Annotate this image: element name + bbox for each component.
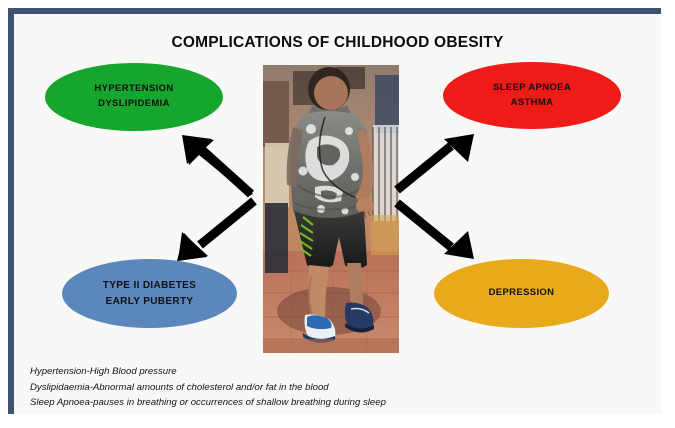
footnotes-block: Hypertension-High Blood pressure Dyslipi… (30, 364, 630, 411)
arrow-up-left-icon (179, 134, 255, 196)
footnote-hypertension: Hypertension-High Blood pressure (30, 364, 630, 380)
node-hypertension-line2: DYSLIPIDEMIA (98, 97, 170, 112)
node-sleep-apnoea-line1: SLEEP APNOEA (493, 81, 571, 96)
node-type-ii-diabetes-early-puberty[interactable]: TYPE II DIABETES EARLY PUBERTY (62, 259, 237, 328)
node-hypertension-dyslipidemia[interactable]: HYPERTENSION DYSLIPIDEMIA (45, 63, 223, 131)
node-sleep-apnoea-asthma[interactable]: SLEEP APNOEA ASTHMA (443, 62, 621, 129)
page-title: COMPLICATIONS OF CHILDHOOD OBESITY (14, 34, 661, 52)
node-sleep-apnoea-line2: ASTHMA (511, 96, 554, 111)
footnote-dyslipidaemia: Dyslipidaemia-Abnormal amounts of choles… (30, 380, 630, 396)
node-depression[interactable]: DEPRESSION (434, 259, 609, 328)
node-diabetes-line2: EARLY PUBERTY (106, 294, 194, 310)
infographic-root: COMPLICATIONS OF CHILDHOOD OBESITY (0, 0, 675, 428)
obese-child-walking-photo (263, 65, 399, 353)
node-depression-line1: DEPRESSION (489, 286, 555, 301)
arrow-down-left-icon (174, 199, 256, 263)
footnote-sleep-apnoea: Sleep Apnoea-pauses in breathing or occu… (30, 395, 630, 411)
arrow-down-right-icon (395, 199, 477, 263)
node-diabetes-line1: TYPE II DIABETES (103, 278, 196, 294)
node-hypertension-line1: HYPERTENSION (94, 82, 173, 97)
arrow-up-right-icon (395, 132, 477, 194)
poster-canvas: COMPLICATIONS OF CHILDHOOD OBESITY (14, 14, 661, 414)
